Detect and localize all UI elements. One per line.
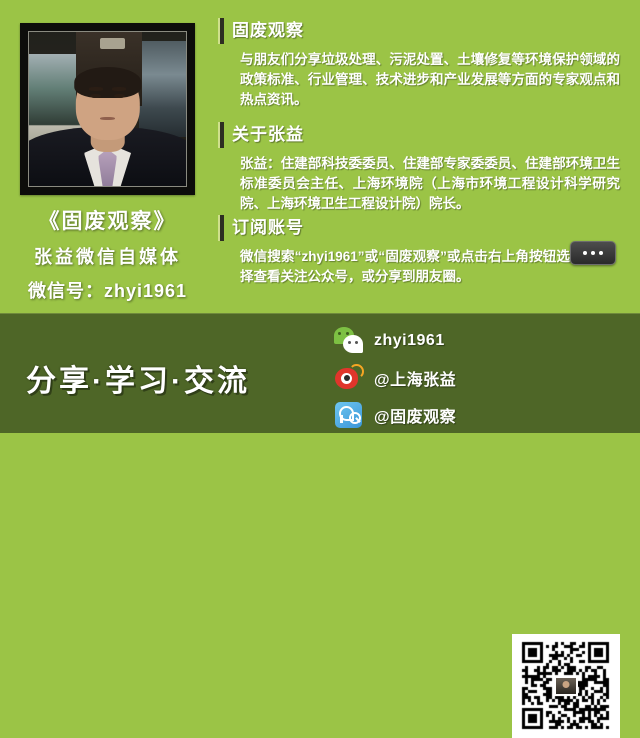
more-options-button[interactable] [570, 241, 616, 265]
social-label: @上海张益 [374, 366, 456, 390]
section-title: 固废观察 [232, 21, 304, 40]
dot-icon [599, 251, 603, 255]
section-about-zhangyi: 关于张益 张益：住建部科技委委员、住建部专家委委员、住建部环境卫生标准委员会主任… [218, 122, 640, 214]
social-list: zhyi1961 @上海张益 @固废观察 [334, 322, 504, 433]
social-row-weibo[interactable]: @上海张益 [334, 359, 504, 396]
upper-panel: 《固废观察》 张益微信自媒体 微信号：zhyi1961 固废观察 与朋友们分享垃… [0, 0, 640, 313]
section-body: 与朋友们分享垃圾处理、污泥处置、土壤修复等环境保护领域的政策标准、行业管理、技术… [240, 50, 620, 110]
accent-bar-icon [218, 215, 224, 241]
footer-bar: 分享·学习·交流 zhyi1961 @上海张益 [0, 313, 640, 433]
portrait-frame [20, 23, 195, 195]
social-label: @固废观察 [374, 403, 456, 427]
section-body: 微信搜索“zhyi1961”或“固废观察”或点击右上角按钮选择查看关注公众号，或… [240, 247, 570, 287]
slogan: 分享·学习·交流 [26, 356, 250, 400]
accent-bar-icon [218, 122, 224, 148]
portrait-photo [28, 31, 187, 187]
section-header: 订阅账号 [218, 215, 640, 241]
section-title: 关于张益 [232, 125, 304, 144]
publication-title: 《固废观察》 [0, 205, 215, 235]
section-gufei-guancha: 固废观察 与朋友们分享垃圾处理、污泥处置、土壤修复等环境保护领域的政策标准、行业… [218, 18, 640, 110]
social-row-search[interactable]: @固废观察 [334, 396, 504, 433]
qr-code[interactable] [512, 634, 620, 738]
weibo-icon [334, 363, 364, 393]
search-icon [334, 400, 364, 430]
profile-column: 《固废观察》 张益微信自媒体 微信号：zhyi1961 [0, 0, 215, 313]
social-row-wechat[interactable]: zhyi1961 [334, 322, 504, 359]
wechat-icon [334, 326, 364, 356]
accent-bar-icon [218, 18, 224, 44]
social-label: zhyi1961 [374, 332, 445, 350]
section-title: 订阅账号 [232, 218, 304, 237]
section-header: 关于张益 [218, 122, 640, 148]
qr-center-photo [554, 676, 578, 696]
wechat-id-line: 微信号：zhyi1961 [0, 277, 215, 303]
dot-icon [591, 251, 595, 255]
section-body: 张益：住建部科技委委员、住建部专家委委员、住建部环境卫生标准委员会主任、上海环境… [240, 154, 620, 214]
promo-card: 《固废观察》 张益微信自媒体 微信号：zhyi1961 固废观察 与朋友们分享垃… [0, 0, 640, 432]
section-subscribe: 订阅账号 微信搜索“zhyi1961”或“固废观察”或点击右上角按钮选择查看关注… [218, 215, 640, 287]
dot-icon [583, 251, 587, 255]
sections-column: 固废观察 与朋友们分享垃圾处理、污泥处置、土壤修复等环境保护领域的政策标准、行业… [218, 0, 640, 313]
publication-subtitle: 张益微信自媒体 [0, 243, 215, 269]
section-header: 固废观察 [218, 18, 640, 44]
